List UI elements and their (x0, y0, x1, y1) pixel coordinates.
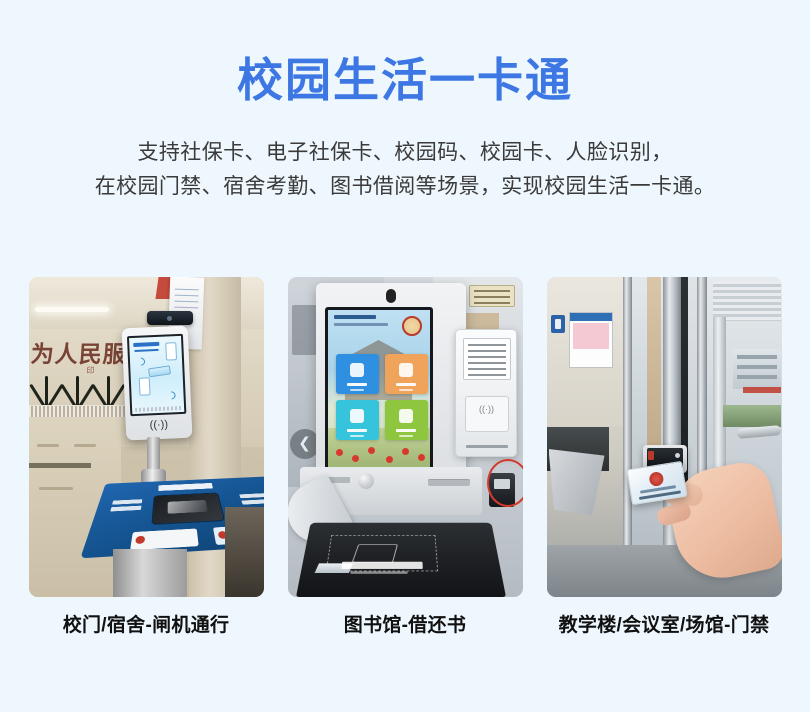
card-reader-area[interactable] (465, 396, 509, 432)
wall-sign (469, 285, 515, 307)
subtitle-block: 支持社保卡、电子社保卡、校园码、校园卡、人脸识别， 在校园门禁、宿舍考勤、图书借… (0, 136, 810, 204)
scenario-card-door-access[interactable]: 教学楼/会议室/场馆-门禁 (547, 277, 782, 637)
tile-borrow-book[interactable] (336, 354, 379, 394)
tray-sublabel-text (350, 571, 407, 573)
subtitle-line-1: 支持社保卡、电子社保卡、校园码、校园卡、人脸识别， (0, 136, 810, 170)
instruction-placard-text (463, 338, 511, 380)
kiosk-camera-icon (386, 289, 396, 303)
poster-header (570, 313, 612, 321)
scenario-cards-row: 为人民服务 印 (0, 277, 810, 637)
tray-label-text (341, 562, 422, 569)
card-caption-door-access: 教学楼/会议室/场馆-门禁 (559, 610, 770, 637)
self-service-kiosk[interactable] (316, 283, 466, 493)
turnstile-label-left (112, 499, 142, 504)
turnstile-label-right (239, 493, 264, 498)
tile-renew-book[interactable] (385, 400, 428, 440)
screen-title-bar (133, 342, 159, 347)
phone-illustration-icon (138, 377, 150, 395)
terminal-screen (126, 334, 185, 416)
subtitle-line-2: 在校园门禁、宿舍考勤、图书借阅等场景，实现校园生活一卡通。 (0, 170, 810, 204)
terminal-post (147, 437, 160, 473)
photo-library-self-service: ❮ (288, 277, 523, 597)
card-sticker-label (130, 528, 199, 550)
kiosk-touchscreen[interactable] (325, 307, 433, 471)
screen-header-title (334, 315, 376, 319)
receipt-printer-slot (428, 479, 470, 486)
face-recognition-terminal[interactable]: ((·)) (121, 326, 192, 441)
nfc-wave-icon (135, 356, 146, 367)
panel-caption-text (466, 445, 508, 448)
photo-gate-turnstile: 为人民服务 印 (29, 277, 264, 597)
national-emblem-icon (648, 471, 664, 487)
phone-illustration-icon (165, 342, 177, 360)
terminal-camera-head (147, 311, 193, 325)
card-caption-library-self-service: 图书馆-借还书 (344, 610, 466, 637)
card-illustration-icon (147, 365, 170, 377)
kiosk-menu-tiles[interactable] (336, 354, 428, 440)
reader-sensor-dot (675, 453, 680, 458)
instruction-panel (455, 329, 517, 457)
outdoor-pillar (713, 317, 726, 467)
wall-seam (37, 444, 59, 447)
nfc-reader-icon: ((·)) (125, 419, 191, 433)
reader-status-light (648, 451, 654, 460)
screen-bottom-strip (135, 406, 181, 412)
turnstile-brand-logo (158, 483, 213, 491)
qr-scanner-window[interactable] (151, 492, 225, 525)
photo-door-access (547, 277, 782, 597)
floor-gap (29, 463, 91, 468)
card-caption-gate-turnstile: 校门/宿舍-闸机通行 (63, 610, 230, 637)
wooden-door-edge (647, 277, 661, 447)
promo-page: 校园生活一卡通 支持社保卡、电子社保卡、校园码、校园卡、人脸识别， 在校园门禁、… (0, 0, 810, 712)
scenario-card-library-self-service[interactable]: ❮ (288, 277, 523, 637)
notice-poster (569, 312, 613, 368)
page-title: 校园生活一卡通 (0, 52, 810, 110)
tile-return-book[interactable] (385, 354, 428, 394)
metal-bench (549, 449, 605, 515)
screen-header-subtitle (334, 323, 388, 326)
library-seal-logo-icon (402, 316, 422, 336)
outdoor-red-banner (743, 387, 781, 393)
ceiling-light (35, 307, 109, 312)
decorative-railing (29, 405, 134, 417)
ceiling-louvers (713, 281, 781, 321)
wall-seam (74, 444, 96, 447)
background-shadow-area (225, 507, 264, 597)
poster-body (573, 323, 609, 349)
outdoor-building (733, 349, 781, 389)
nfc-wave-icon (165, 390, 176, 401)
outdoor-greenery (723, 405, 781, 427)
kiosk-knob (358, 473, 374, 489)
wall-seam (39, 487, 73, 490)
blue-wall-sign (551, 315, 565, 333)
page-header: 校园生活一卡通 支持社保卡、电子社保卡、校园码、校园卡、人脸识别， 在校园门禁、… (0, 0, 810, 204)
book-placement-tray[interactable] (296, 523, 506, 597)
tile-search-book[interactable] (336, 400, 379, 440)
turnstile-pedestal (113, 549, 187, 597)
scenario-card-gate-turnstile[interactable]: 为人民服务 印 (29, 277, 264, 637)
